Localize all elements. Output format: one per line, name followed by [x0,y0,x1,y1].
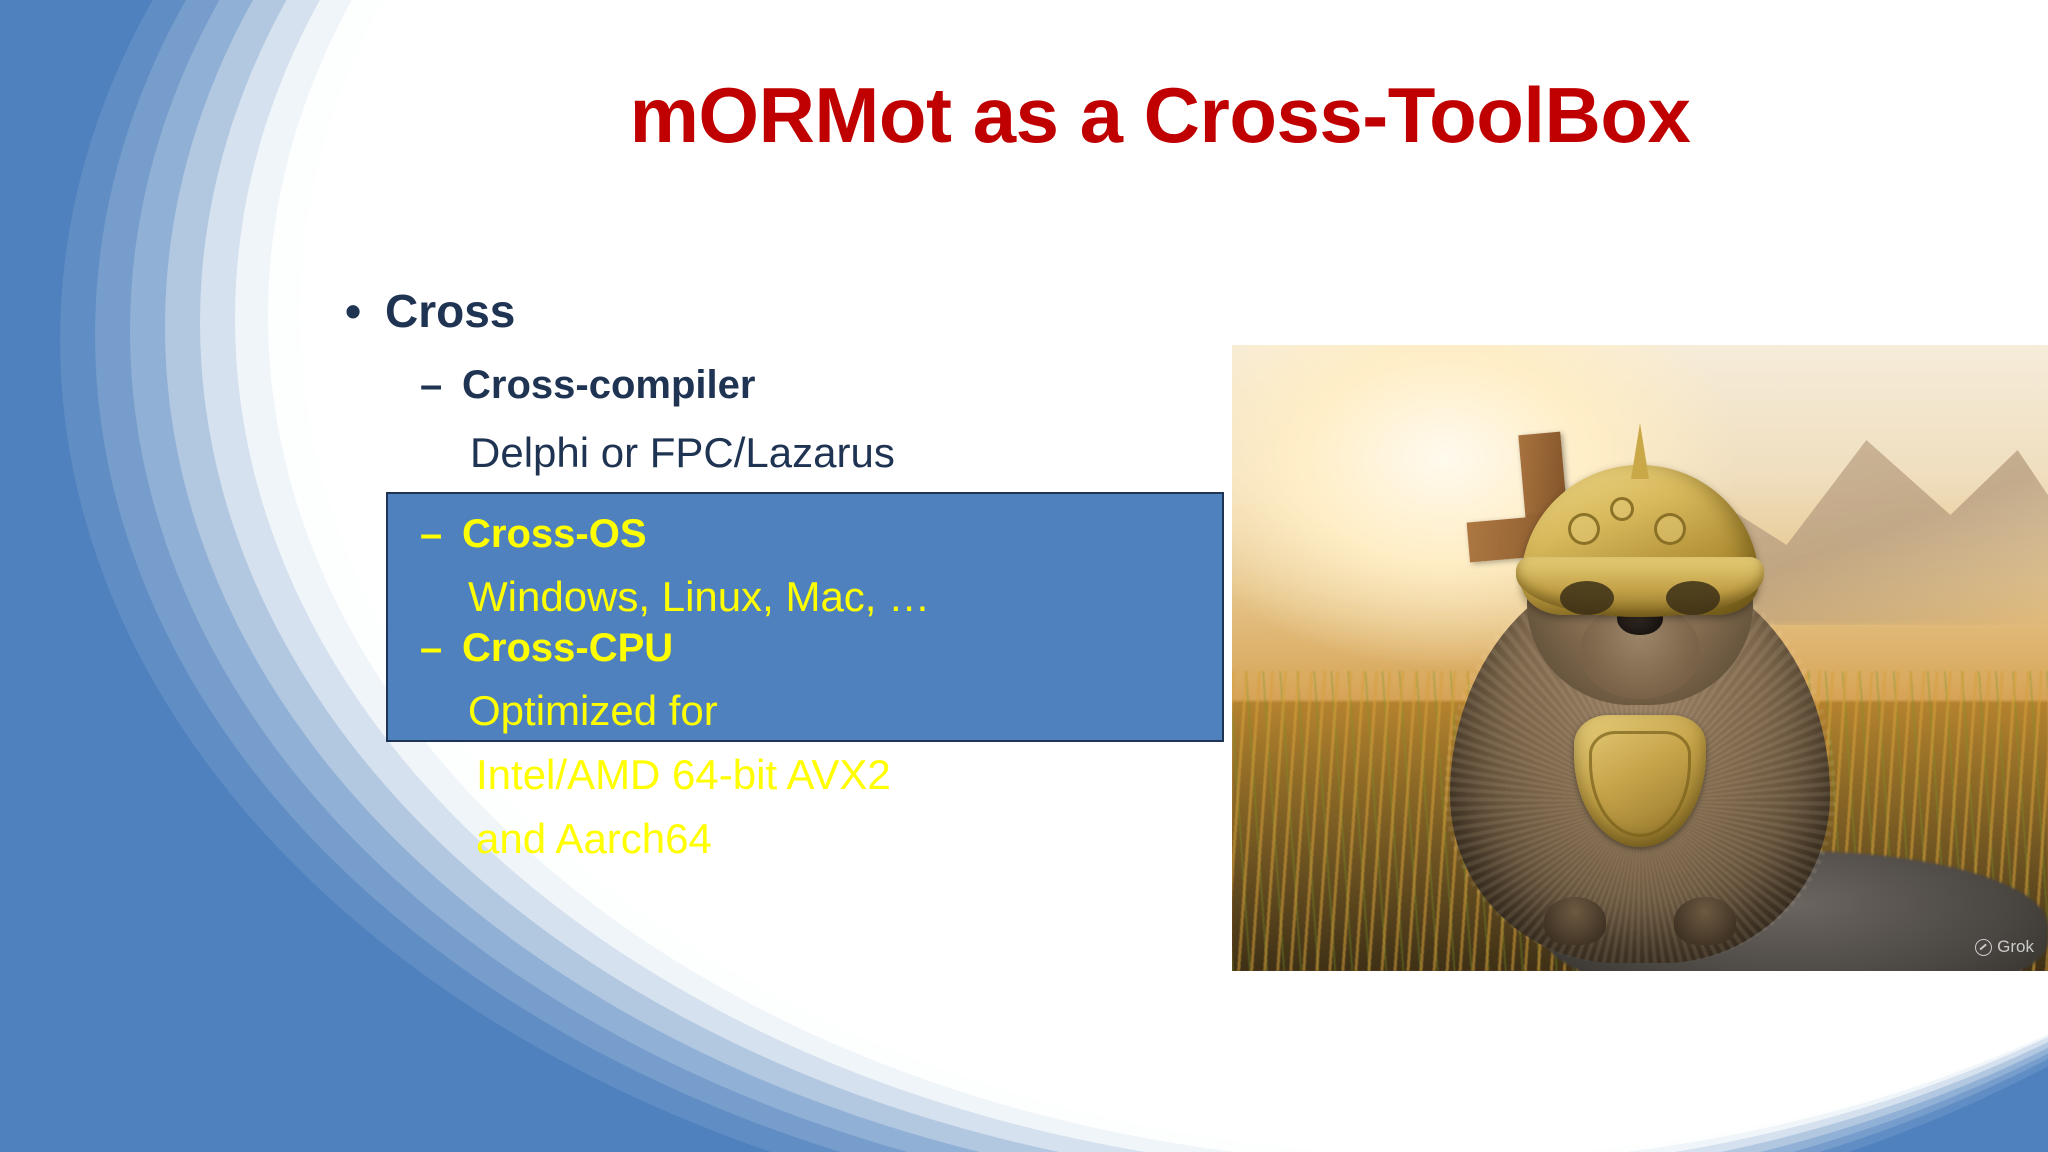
cross-compiler-description: Delphi or FPC/Lazarus [470,432,895,474]
cross-cpu-description-1: Optimized for [420,690,1224,732]
marmot-warrior-image: Grok [1232,345,2048,971]
cross-cpu-description-2: Intel/AMD 64-bit AVX2 [420,754,1224,796]
cross-os-label: Cross-OS [462,512,647,556]
marmot-paw-right [1674,897,1736,945]
cross-os-description: Windows, Linux, Mac, … [420,576,1224,618]
watermark-label: Grok [1997,937,2034,957]
helmet-eyehole-right [1666,581,1720,615]
helmet-ornament-a [1568,513,1600,545]
bullet-level2-label: Cross-compiler [462,363,755,407]
helmet-ornament-c [1610,497,1634,521]
marmot-paw-left [1544,897,1606,945]
dash-glyph-os: – [420,514,462,554]
bullet-level1-label: Cross [385,285,515,337]
dash-glyph: – [420,365,462,405]
bullet-level1-cross: •Cross [345,288,515,334]
bullet-level2-cross-os: –Cross-OS [420,514,1224,554]
dash-glyph-cpu: – [420,628,462,668]
highlight-box-content: –Cross-OS Windows, Linux, Mac, … –Cross-… [386,492,1224,742]
bullet-glyph: • [345,288,385,334]
cross-cpu-description-3: and Aarch64 [420,818,1224,860]
helmet-ornament-b [1654,513,1686,545]
slide-title: mORMot as a Cross-ToolBox [380,75,1940,157]
bullet-level2-cross-cpu: –Cross-CPU [420,628,1224,668]
golden-helmet-spike [1631,423,1649,479]
helmet-eyehole-left [1560,581,1614,615]
presentation-slide: mORMot as a Cross-ToolBox •Cross –Cross-… [0,0,2048,1152]
bullet-level2-cross-compiler: –Cross-compiler [420,365,755,405]
image-watermark: Grok [1975,937,2034,957]
cross-cpu-label: Cross-CPU [462,626,673,670]
grok-logo-icon [1975,939,1992,956]
